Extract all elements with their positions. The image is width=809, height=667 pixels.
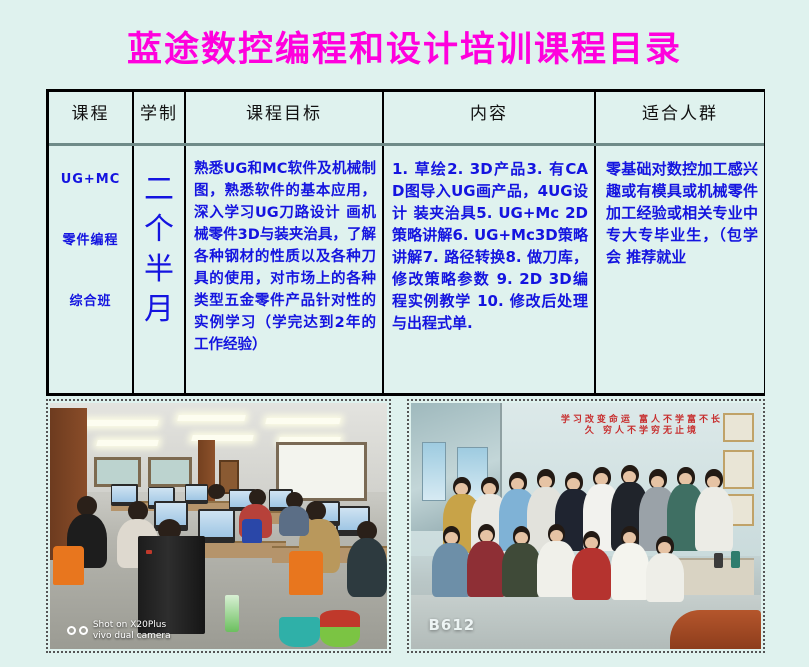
cell-duration: 二 个 半 月 [133, 144, 185, 393]
person [646, 553, 685, 602]
column-header-content: 内容 [383, 92, 595, 144]
column-header-goal: 课程目标 [185, 92, 383, 144]
watermark-line-2: vivo dual camera [93, 631, 171, 642]
column-header-audience: 适合人群 [595, 92, 764, 144]
group-photo: 学习改变命运 富人不学富不长久 穷人不学穷无止境 [411, 403, 761, 649]
cell-target-audience: 零基础对数控加工感兴趣或有模具或机械零件加工经验或相关专业中专大专毕业生，（包学… [595, 144, 764, 393]
course-name-line-3: 综合班 [53, 290, 128, 309]
table-row: UG+MC 零件编程 综合班 二 个 半 月 熟悉UG和MC软件及机械制图，熟悉… [49, 144, 764, 393]
person [695, 487, 734, 551]
photo-gallery: Shot on X20Plus vivo dual camera 学习改变命运 … [46, 399, 765, 653]
column-header-duration: 学制 [133, 92, 185, 144]
classroom-photo-frame: Shot on X20Plus vivo dual camera [46, 399, 391, 653]
person [611, 543, 650, 600]
person [537, 541, 576, 598]
person [502, 543, 541, 597]
cell-course-goal: 熟悉UG和MC软件及机械制图，熟悉软件的基本应用，深入学习UG刀路设计 画机械零… [185, 144, 383, 393]
course-table: 课程 学制 课程目标 内容 适合人群 UG+MC 零件编程 综合班 二 个 半 … [49, 92, 764, 393]
window [94, 457, 141, 487]
bottle [714, 553, 723, 568]
student-head [208, 484, 225, 499]
cell-course-content: 1. 草绘2. 3D产品3. 有CAD图导入UG画产品，4UG设计 装夹治具5.… [383, 144, 595, 393]
page-title: 蓝途数控编程和设计培训课程目录 [0, 0, 809, 82]
camera-lens-icon [67, 626, 88, 635]
course-name-line-1: UG+MC [53, 172, 128, 187]
course-table-container: 课程 学制 课程目标 内容 适合人群 UG+MC 零件编程 综合班 二 个 半 … [46, 89, 765, 396]
vivo-watermark: Shot on X20Plus vivo dual camera [67, 620, 171, 642]
watermark-text: Shot on X20Plus vivo dual camera [93, 620, 171, 642]
ceiling-light [83, 420, 159, 426]
b612-watermark: B612 [429, 616, 476, 634]
ceiling-light [96, 440, 158, 446]
ceiling-light [265, 418, 341, 424]
person [572, 548, 611, 600]
wall-poster [422, 442, 447, 501]
basin [279, 617, 319, 647]
column-header-course: 课程 [49, 92, 133, 144]
course-name-line-2: 零件编程 [53, 229, 128, 248]
teacher [279, 506, 309, 536]
group-photo-frame: 学习改变命运 富人不学富不长久 穷人不学穷无止境 [407, 399, 765, 653]
duration-char-3: 半 [134, 250, 184, 290]
table-header-row: 课程 学制 课程目标 内容 适合人群 [49, 92, 764, 144]
student [347, 538, 387, 597]
watermark-line-1: Shot on X20Plus [93, 620, 171, 631]
chair [242, 519, 262, 544]
bottle [731, 551, 740, 568]
classroom-photo: Shot on X20Plus vivo dual camera [50, 403, 387, 649]
red-object [320, 610, 360, 627]
window [148, 457, 192, 487]
duration-char-2: 个 [134, 210, 184, 250]
duration-vertical-text: 二 个 半 月 [134, 170, 184, 330]
chair [53, 546, 83, 585]
person [432, 543, 471, 597]
wall-calligraphy: 学习改变命运 富人不学富不长久 穷人不学穷无止境 [558, 415, 726, 437]
monitor [185, 484, 209, 504]
certificate [723, 450, 755, 489]
chair [289, 551, 323, 595]
certificate [723, 413, 755, 443]
cell-course-name: UG+MC 零件编程 综合班 [49, 144, 133, 393]
duration-char-4: 月 [134, 290, 184, 330]
sofa [670, 610, 761, 649]
water-bottle [225, 595, 238, 632]
duration-char-1: 二 [134, 170, 184, 210]
ceiling-light [177, 415, 246, 421]
person [467, 541, 506, 598]
